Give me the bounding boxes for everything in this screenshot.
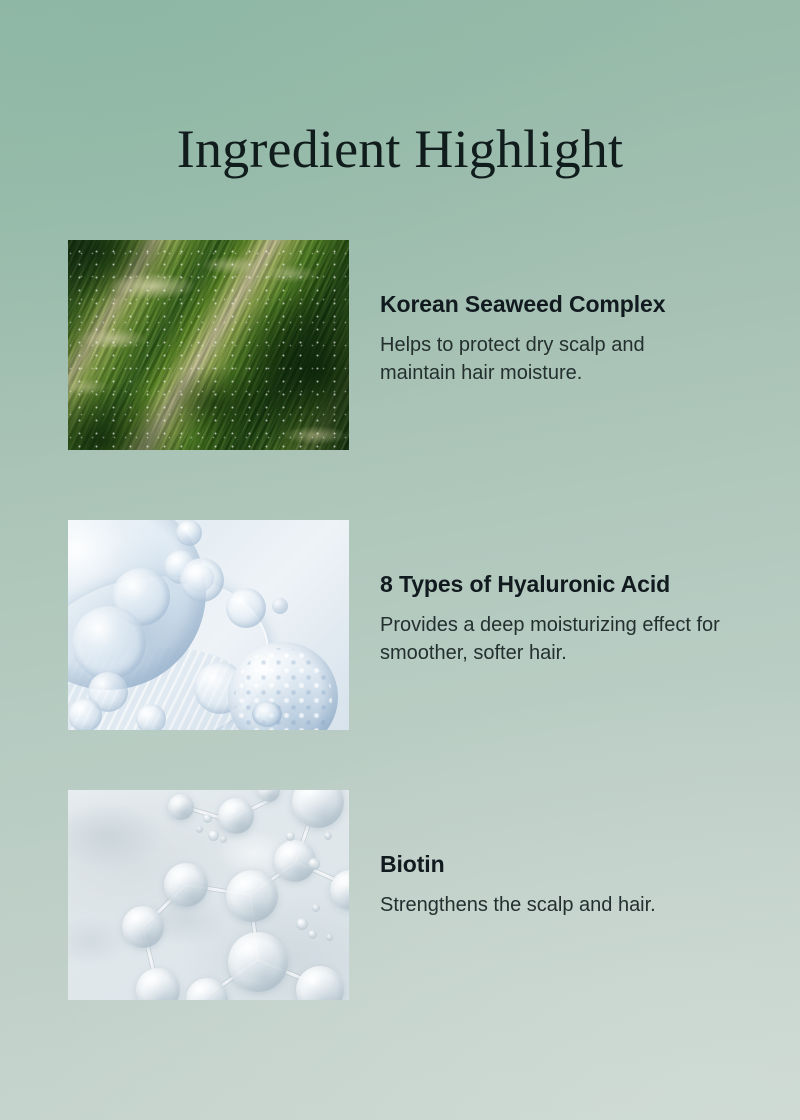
molecule-bubble-tiny bbox=[308, 930, 317, 939]
bubble-small bbox=[68, 698, 102, 730]
molecule-bubble-tiny bbox=[196, 826, 203, 833]
molecule-atom bbox=[164, 863, 208, 907]
ingredient-description: Strengthens the scalp and hair. bbox=[380, 891, 725, 919]
molecule-atom bbox=[168, 794, 194, 820]
ingredient-title: Korean Seaweed Complex bbox=[380, 292, 725, 317]
bubble-small bbox=[176, 520, 202, 546]
ingredient-description: Helps to protect dry scalp and maintain … bbox=[380, 331, 725, 387]
molecule-bubble-tiny bbox=[326, 934, 333, 941]
molecule-bubble-tiny bbox=[296, 918, 308, 930]
molecule-bubble-tiny bbox=[286, 832, 295, 841]
molecule-structure-image bbox=[68, 790, 349, 1000]
molecule-bubble-tiny bbox=[208, 830, 219, 841]
bubble-small bbox=[136, 704, 166, 730]
ingredient-copy: Biotin Strengthens the scalp and hair. bbox=[380, 852, 725, 919]
bubble-tiny bbox=[272, 598, 288, 614]
molecule-bubble-tiny bbox=[203, 814, 212, 823]
bubble-small bbox=[226, 588, 266, 628]
ingredient-description: Provides a deep moisturizing effect for … bbox=[380, 611, 725, 667]
molecule-bubble-tiny bbox=[220, 836, 227, 843]
ingredient-row: Korean Seaweed Complex Helps to protect … bbox=[68, 240, 712, 450]
bubble-small bbox=[180, 558, 224, 602]
ingredient-row: 8 Types of Hyaluronic Acid Provides a de… bbox=[68, 520, 712, 730]
page-title: Ingredient Highlight bbox=[0, 122, 800, 176]
bubble-small bbox=[72, 606, 146, 680]
ingredient-title: Biotin bbox=[380, 852, 725, 877]
molecule-bubble-tiny bbox=[324, 832, 332, 840]
water-bubbles-image bbox=[68, 520, 349, 730]
molecule-bubble-tiny bbox=[308, 858, 320, 870]
ingredient-highlight-poster: Ingredient Highlight Korean Seaweed Comp… bbox=[0, 0, 800, 1120]
ingredient-copy: 8 Types of Hyaluronic Acid Provides a de… bbox=[380, 572, 725, 667]
molecule-atom bbox=[226, 870, 278, 922]
molecule-atom bbox=[228, 932, 288, 992]
ingredient-copy: Korean Seaweed Complex Helps to protect … bbox=[380, 292, 725, 387]
seaweed-water-droplets bbox=[68, 240, 349, 450]
molecule-atom bbox=[218, 798, 254, 834]
molecule-bubble-tiny bbox=[312, 904, 320, 912]
ingredient-row: Biotin Strengthens the scalp and hair. bbox=[68, 790, 712, 1000]
molecule-atom bbox=[122, 906, 164, 948]
ingredient-title: 8 Types of Hyaluronic Acid bbox=[380, 572, 725, 597]
seaweed-texture-image bbox=[68, 240, 349, 450]
